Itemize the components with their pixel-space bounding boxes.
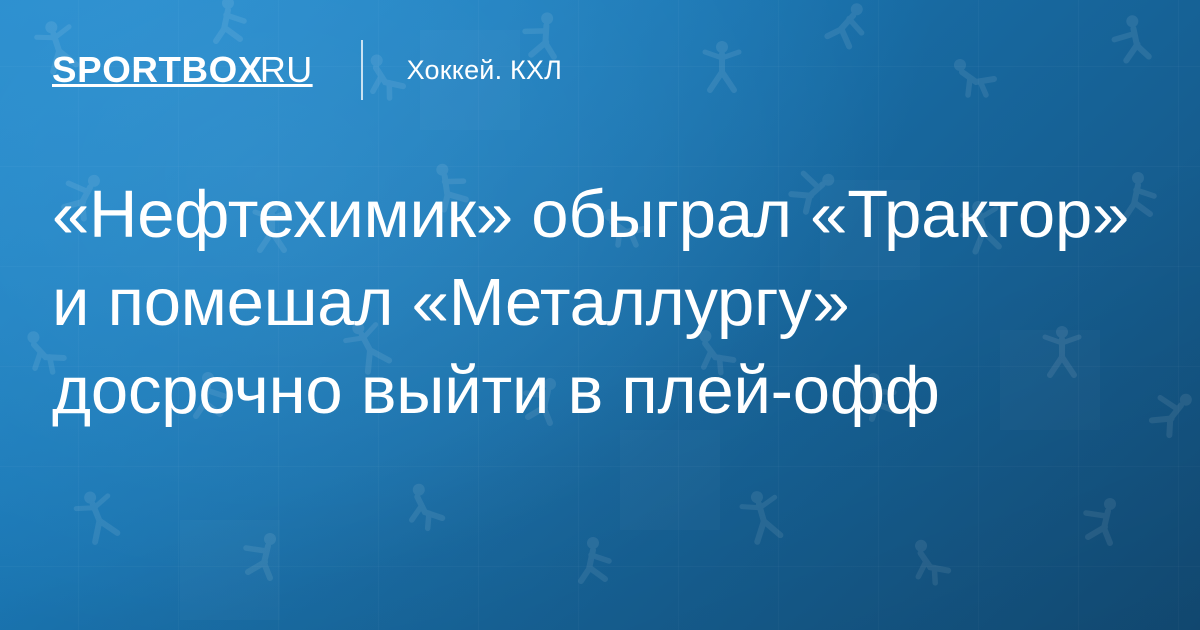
sportbox-ru-logo[interactable]: SPORTBOXRU — [52, 52, 313, 88]
background-soft-tile — [180, 520, 280, 620]
logo-wordmark: SPORTBOX — [52, 52, 263, 88]
headline-line-2: и помешал «Металлургу» — [52, 259, 1142, 347]
headline-line-1: «Нефтехимик» обыграл «Трактор» — [52, 171, 1142, 259]
section-label: Хоккей. КХЛ — [407, 55, 562, 86]
headline: «Нефтехимик» обыграл «Трактор» и помешал… — [52, 171, 1142, 435]
card-header: SPORTBOXRU Хоккей. КХЛ — [52, 40, 562, 100]
logo-tld: RU — [260, 52, 313, 88]
header-divider — [361, 40, 363, 100]
share-card: SPORTBOXRU Хоккей. КХЛ «Нефтехимик» обыг… — [0, 0, 1200, 630]
headline-line-3: досрочно выйти в плей-офф — [52, 347, 1142, 435]
background-soft-tile — [620, 430, 720, 530]
